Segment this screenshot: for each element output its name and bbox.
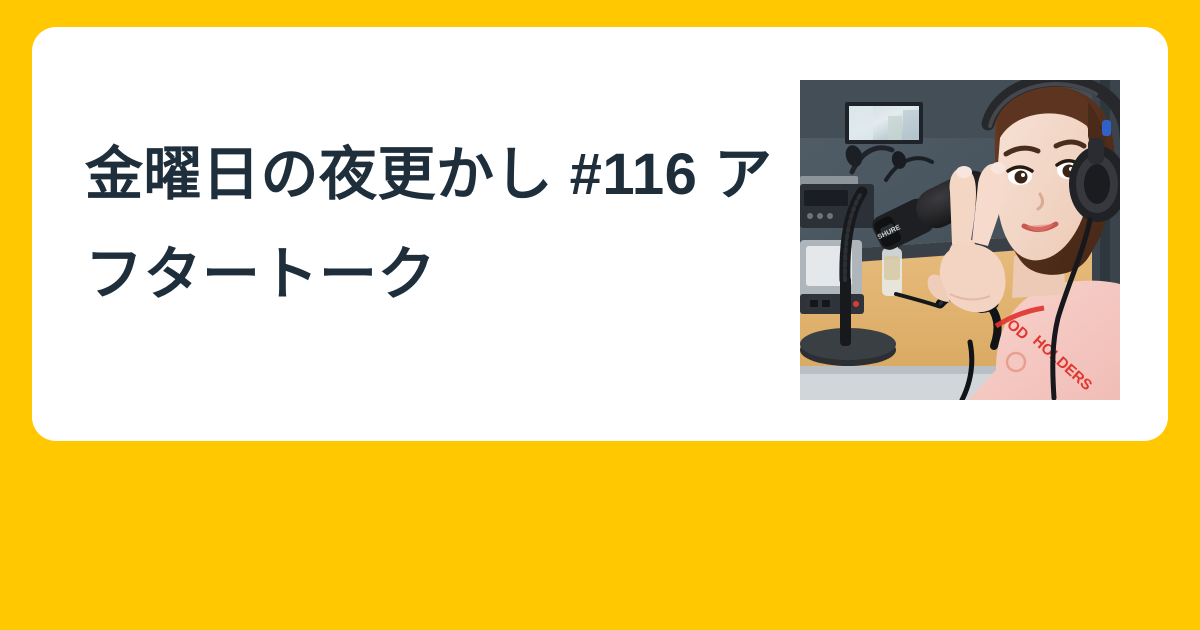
- page-title: 金曜日の夜更かし #116 アフタートーク: [85, 125, 785, 325]
- episode-cover-photo[interactable]: SHURE: [800, 80, 1120, 400]
- cover-photo-image: SHURE: [800, 80, 1120, 400]
- episode-title-block: 金曜日の夜更かし #116 アフタートーク: [85, 125, 785, 325]
- episode-card-inner: 金曜日の夜更かし #116 アフタートーク: [32, 27, 1168, 441]
- episode-card[interactable]: 金曜日の夜更かし #116 アフタートーク: [32, 27, 1168, 441]
- footer-bar: Radiotalk 07:21: [0, 441, 1200, 630]
